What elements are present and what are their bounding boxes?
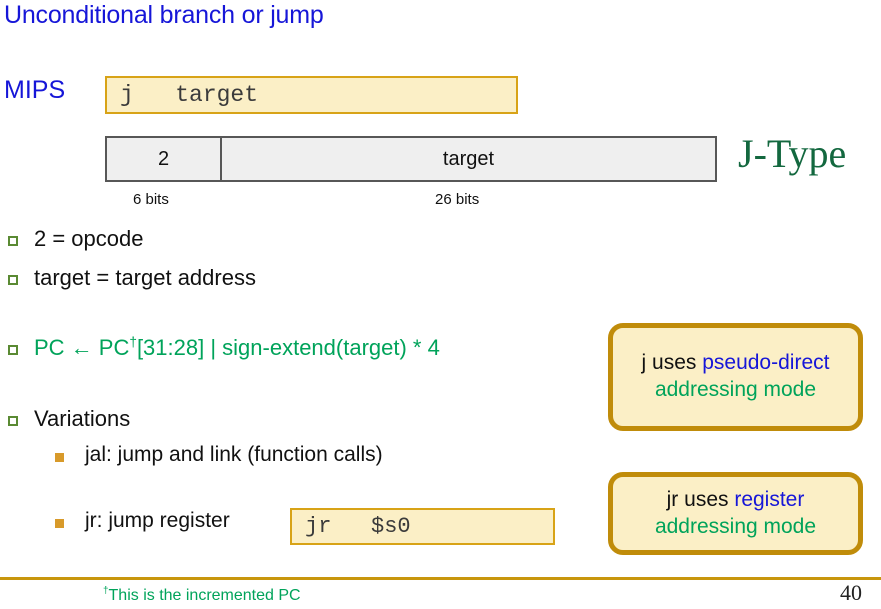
callout-jump-part3: addressing mode <box>655 378 816 401</box>
footer-divider <box>0 577 881 580</box>
bullet-square-icon <box>8 236 18 246</box>
bullet-label-pc: PC ← PC†[31:28] | sign-extend(target) * … <box>34 337 440 359</box>
code-box-jump: j target <box>105 76 518 114</box>
bullet-item-jal: jal: jump and link (function calls) <box>55 444 383 465</box>
bullet-label-target: target = target address <box>34 267 256 289</box>
footnote-text: This is the incremented PC <box>109 587 301 604</box>
callout-jump-part2: pseudo-direct <box>702 351 829 374</box>
sub-bullet-square-icon <box>55 519 64 528</box>
dagger-marker-icon: † <box>129 335 137 350</box>
bullet-square-icon <box>8 345 18 355</box>
bullet-item-pc: PC ← PC†[31:28] | sign-extend(target) * … <box>8 337 440 359</box>
callout-text-jump: j uses pseudo-direct addressing mode <box>623 350 848 404</box>
pc-suffix: [31:28] | sign-extend(target) * 4 <box>137 335 440 360</box>
code-box-jump-register: jr $s0 <box>290 508 555 545</box>
bullet-label-jal: jal: jump and link (function calls) <box>85 444 383 465</box>
bullet-item-target: target = target address <box>8 267 256 289</box>
callout-jump-register-addressing-mode: jr uses register addressing mode <box>608 472 863 555</box>
page-number: 40 <box>840 580 862 606</box>
instruction-format-table: 2 target <box>105 136 717 182</box>
code-text-jump-register: jr $s0 <box>305 514 411 539</box>
footnote: †This is the incremented PC <box>103 587 301 605</box>
bullet-item-jr: jr: jump register <box>55 510 230 531</box>
code-text-jump: j target <box>120 82 258 108</box>
bullet-label-variations: Variations <box>34 408 130 430</box>
pc-prefix: PC ← PC <box>34 335 129 360</box>
callout-jr-part3: addressing mode <box>655 515 816 538</box>
callout-jr-part2: register <box>734 488 804 511</box>
bullet-label-opcode: 2 = opcode <box>34 228 143 250</box>
bullet-square-icon <box>8 275 18 285</box>
bullet-label-jr: jr: jump register <box>85 510 230 531</box>
format-field-opcode: 2 <box>107 138 222 180</box>
bullet-square-icon <box>8 416 18 426</box>
sub-bullet-square-icon <box>55 453 64 462</box>
bits-label-opcode: 6 bits <box>133 191 169 208</box>
slide: Unconditional branch or jump MIPS j targ… <box>0 0 881 609</box>
callout-jr-part1: jr uses <box>667 488 735 511</box>
callout-text-jump-register: jr uses register addressing mode <box>623 487 848 541</box>
page-title: Unconditional branch or jump <box>4 1 324 30</box>
mips-label: MIPS <box>4 76 65 105</box>
bullet-item-variations: Variations <box>8 408 130 430</box>
bullet-item-opcode: 2 = opcode <box>8 228 143 250</box>
callout-jump-part1: j uses <box>642 351 703 374</box>
format-name-label: J-Type <box>738 130 846 177</box>
format-field-target: target <box>222 138 715 180</box>
callout-jump-addressing-mode: j uses pseudo-direct addressing mode <box>608 323 863 431</box>
bits-label-target: 26 bits <box>435 191 479 208</box>
